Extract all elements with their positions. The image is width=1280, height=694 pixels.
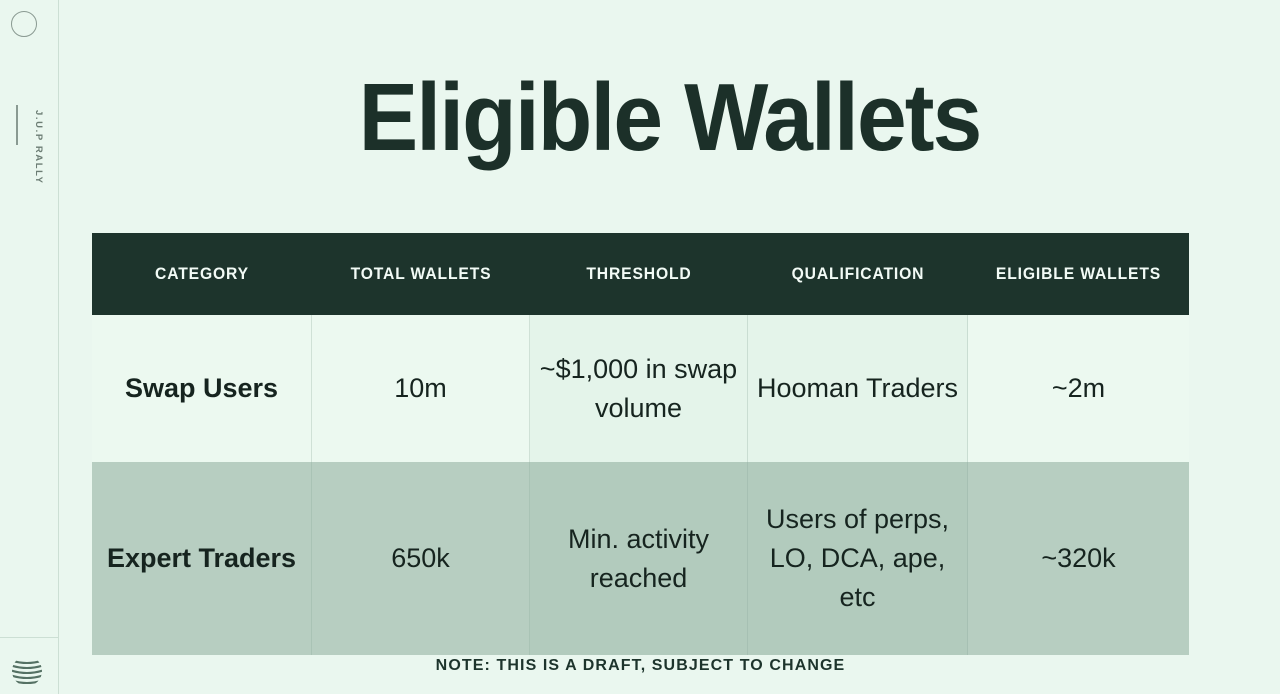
cell-category: Swap Users xyxy=(92,315,312,462)
cell-eligible-wallets: ~320k xyxy=(968,462,1189,655)
column-header-total-wallets: TOTAL WALLETS xyxy=(317,264,524,285)
column-header-eligible-wallets: ELIGIBLE WALLETS xyxy=(974,264,1184,285)
table-header-row: CATEGORY TOTAL WALLETS THRESHOLD QUALIFI… xyxy=(92,233,1189,315)
cell-threshold: Min. activity reached xyxy=(530,462,748,655)
page-title: Eligible Wallets xyxy=(102,66,1238,170)
cell-qualification: Users of perps, LO, DCA, ape, etc xyxy=(748,462,968,655)
rail-brand-label: J.U.P RALLY xyxy=(33,110,44,210)
rail-divider-line xyxy=(16,105,18,145)
cell-category: Expert Traders xyxy=(92,462,312,655)
rail-bottom-divider xyxy=(0,637,59,638)
jupiter-logo-icon xyxy=(11,655,43,687)
cell-total-wallets: 10m xyxy=(312,315,530,462)
draft-disclaimer-note: NOTE: THIS IS A DRAFT, SUBJECT TO CHANGE xyxy=(92,657,1189,675)
cell-threshold: ~$1,000 in swap volume xyxy=(530,315,748,462)
column-header-qualification: QUALIFICATION xyxy=(754,264,963,285)
column-header-threshold: THRESHOLD xyxy=(535,264,742,285)
cell-eligible-wallets: ~2m xyxy=(968,315,1189,462)
cell-total-wallets: 650k xyxy=(312,462,530,655)
cell-qualification: Hooman Traders xyxy=(748,315,968,462)
eligible-wallets-table: CATEGORY TOTAL WALLETS THRESHOLD QUALIFI… xyxy=(92,233,1189,655)
left-sidebar: J.U.P RALLY xyxy=(0,0,59,694)
circle-outline-icon xyxy=(11,11,37,37)
table-row: Swap Users 10m ~$1,000 in swap volume Ho… xyxy=(92,315,1189,462)
table-row: Expert Traders 650k Min. activity reache… xyxy=(92,462,1189,655)
column-header-category: CATEGORY xyxy=(98,264,307,285)
